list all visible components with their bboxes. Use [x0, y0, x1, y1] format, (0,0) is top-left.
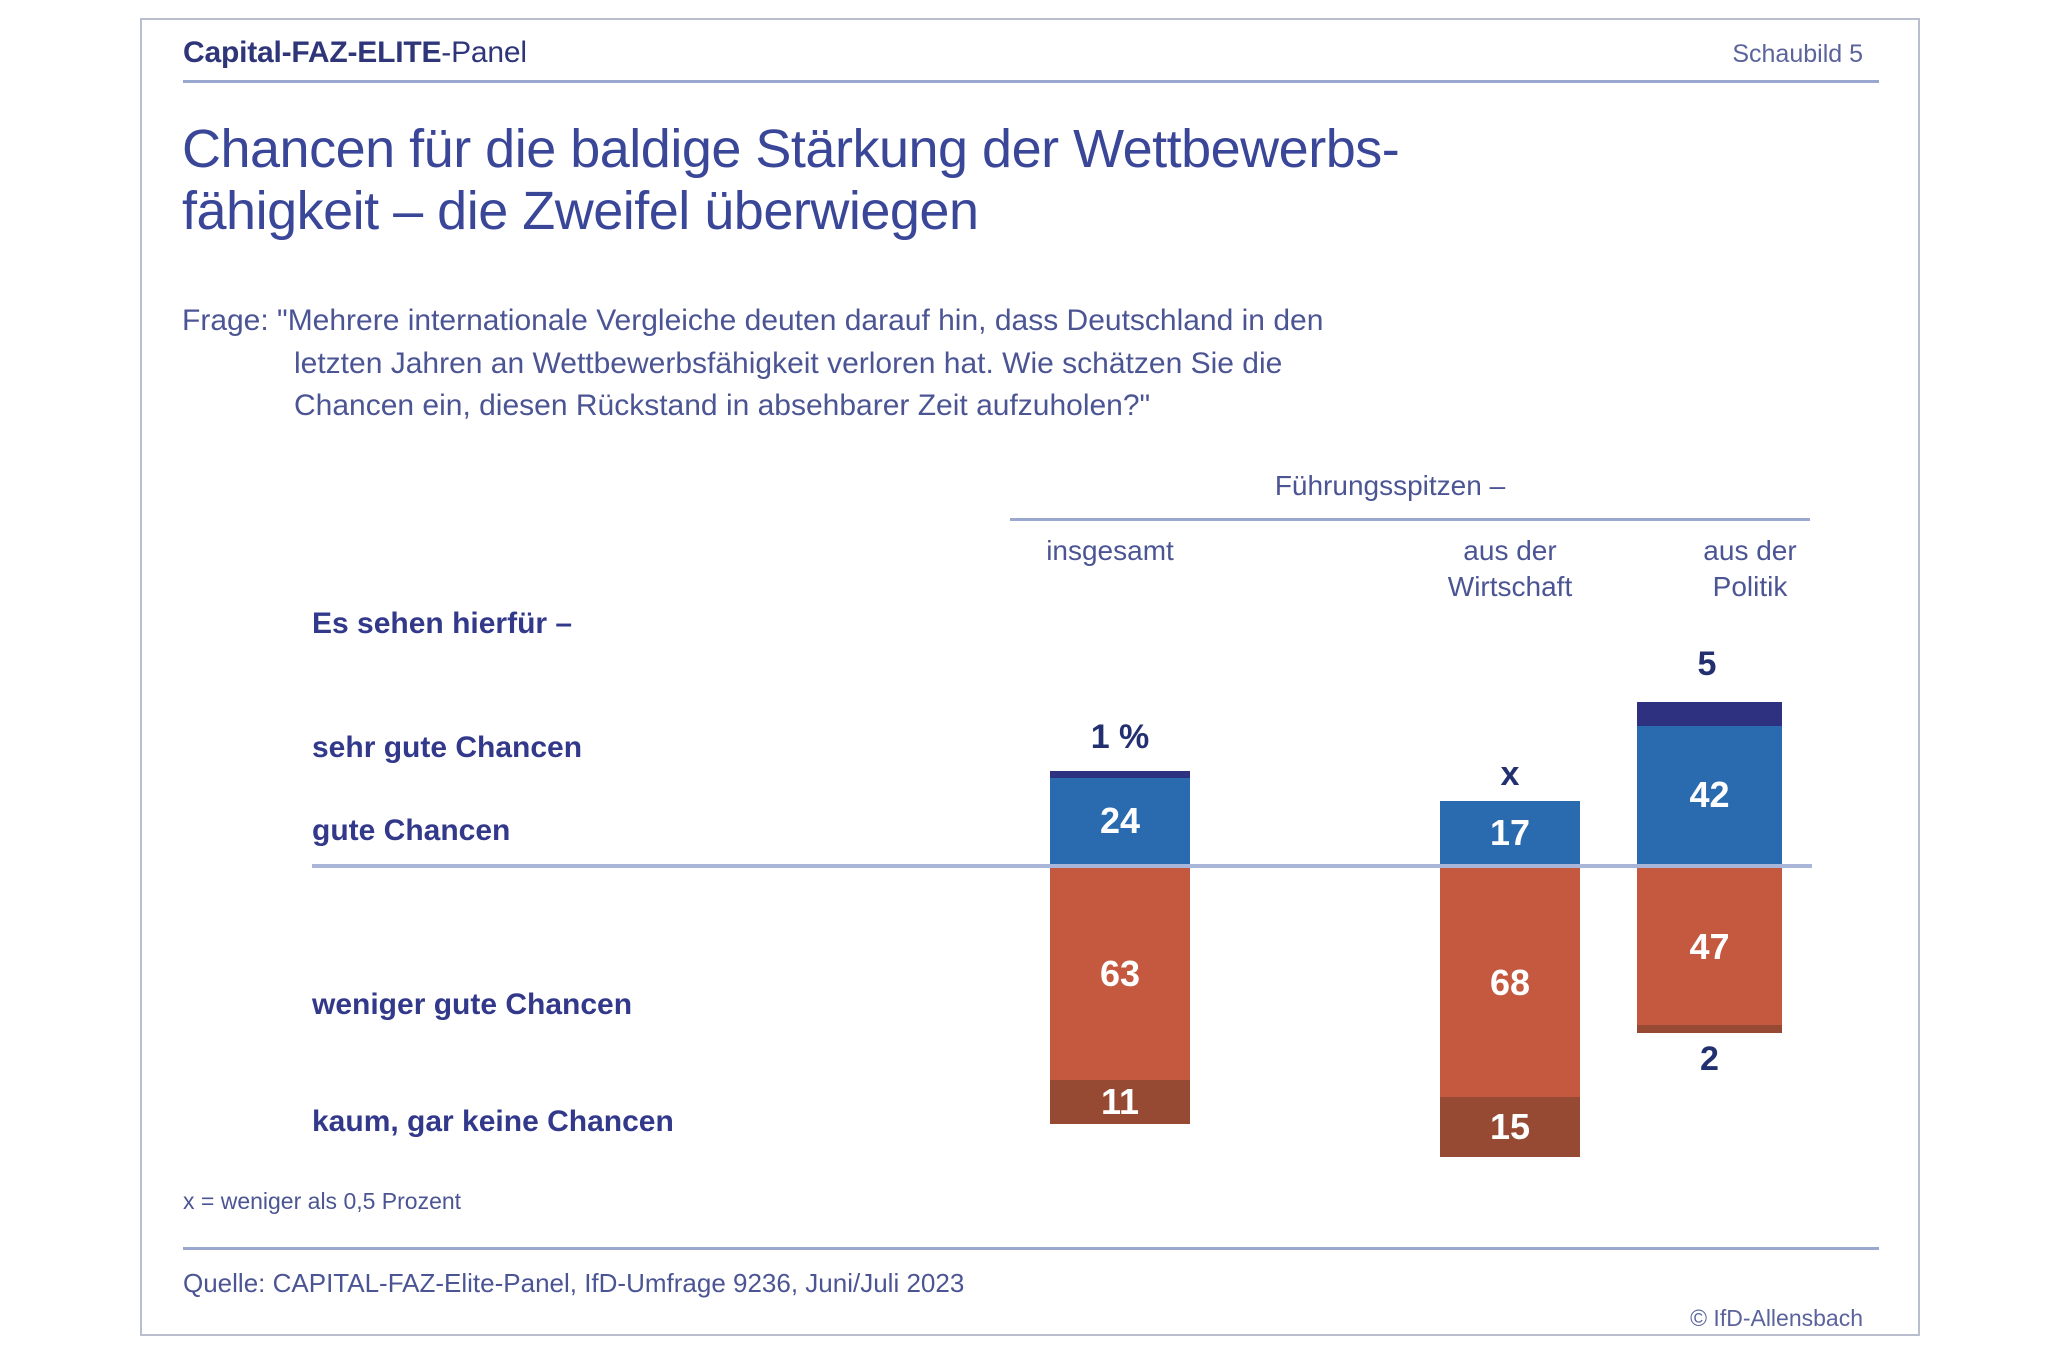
bar-segment-wirtschaft-gute: 17: [1440, 801, 1580, 864]
bar-segment-insgesamt-weniger-gute: 63: [1050, 868, 1190, 1080]
bar-segment-insgesamt-gute: 24: [1050, 778, 1190, 864]
bar-label-politik-kaum-keine: 2: [1637, 1040, 1782, 1079]
bar-segment-wirtschaft-kaum-keine: 15: [1440, 1097, 1580, 1157]
bar-label-insgesamt-sehr-gute: 1 %: [1050, 718, 1190, 757]
footer-divider: [183, 1247, 1879, 1250]
footnote-x: x = weniger als 0,5 Prozent: [183, 1188, 461, 1215]
bar-label-politik-sehr-gute: 5: [1637, 645, 1777, 684]
bar-segment-wirtschaft-weniger-gute: 68: [1440, 868, 1580, 1097]
bar-segment-politik-weniger-gute: 47: [1637, 868, 1782, 1025]
bar-segment-politik-kaum-keine: [1637, 1025, 1782, 1033]
bar-segment-insgesamt-sehr-gute: [1050, 771, 1190, 778]
bar-segment-politik-gute: 42: [1637, 726, 1782, 864]
copyright-line: © IfD-Allensbach: [1690, 1305, 1863, 1332]
bar-segment-insgesamt-kaum-keine: 11: [1050, 1080, 1190, 1124]
chart-baseline: [312, 864, 1812, 868]
source-line: Quelle: CAPITAL-FAZ-Elite-Panel, IfD-Umf…: [183, 1268, 964, 1299]
chart-page: Capital-FAZ-ELITE-Panel Schaubild 5 Chan…: [0, 0, 2048, 1363]
bar-segment-politik-sehr-gute: [1637, 702, 1782, 726]
stacked-bar-chart: 1 % 24 63 11 x 17 68 15 5 42 47 2: [0, 0, 2048, 1363]
bar-label-wirtschaft-sehr-gute: x: [1440, 755, 1580, 794]
